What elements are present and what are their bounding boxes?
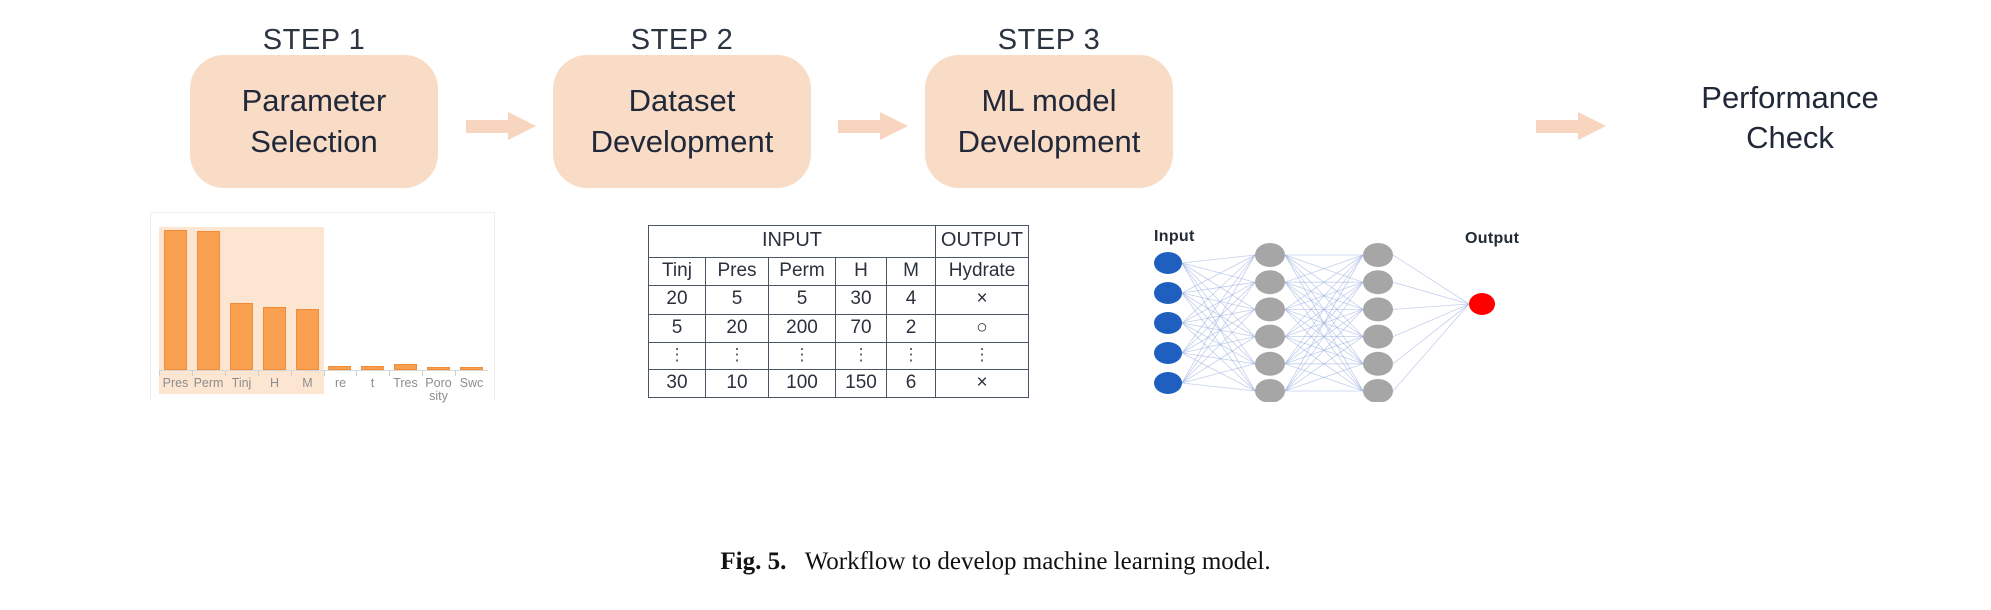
table-cell: 100 bbox=[769, 369, 836, 398]
column-header-hydrate: Hydrate bbox=[936, 257, 1029, 286]
nn-node-hidden-1-4 bbox=[1255, 325, 1285, 349]
x-label-tres: Tres bbox=[389, 377, 422, 390]
bar-m bbox=[296, 309, 319, 370]
bar-plot-area bbox=[159, 227, 488, 370]
dataset-table-panel: INPUT OUTPUT Tinj Pres Perm H M Hydrate … bbox=[648, 225, 1029, 398]
step-1-box[interactable]: Parameter Selection bbox=[190, 55, 438, 188]
table-cell: 70 bbox=[836, 314, 887, 343]
nn-node-hidden-1-1 bbox=[1255, 243, 1285, 267]
x-label-re: re bbox=[324, 377, 357, 390]
x-label-line: Tres bbox=[389, 377, 422, 390]
step-3-title: STEP 3 bbox=[925, 26, 1173, 55]
nn-svg bbox=[1130, 222, 1560, 402]
table-row: 2055304× bbox=[649, 286, 1029, 315]
table-column-header-row: Tinj Pres Perm H M Hydrate bbox=[649, 257, 1029, 286]
x-label-swc: Swc bbox=[455, 377, 488, 390]
x-label-poro-sity: Porosity bbox=[422, 377, 455, 403]
x-axis-tick bbox=[422, 370, 423, 376]
x-label-tinj: Tinj bbox=[225, 377, 258, 390]
table-row: 520200702○ bbox=[649, 314, 1029, 343]
column-header-tinj: Tinj bbox=[649, 257, 706, 286]
nn-node-hidden-1-6 bbox=[1255, 379, 1285, 402]
table-cell: 5 bbox=[649, 314, 706, 343]
arrow-shaft bbox=[1536, 120, 1582, 133]
x-label-m: M bbox=[291, 377, 324, 390]
table-cell: 30 bbox=[649, 369, 706, 398]
nn-node-input-3 bbox=[1154, 312, 1182, 334]
table-cell: × bbox=[936, 286, 1029, 315]
x-label-line: H bbox=[258, 377, 291, 390]
bar-h bbox=[263, 307, 286, 370]
table-cell: 30 bbox=[836, 286, 887, 315]
step-3-box[interactable]: ML model Development bbox=[925, 55, 1173, 188]
x-label-t: t bbox=[356, 377, 389, 390]
group-header-output: OUTPUT bbox=[936, 226, 1029, 258]
nn-node-hidden-2-4 bbox=[1363, 325, 1393, 349]
column-header-perm: Perm bbox=[769, 257, 836, 286]
table-cell-ellipsis: ⋮ bbox=[706, 343, 769, 369]
bar-rect bbox=[296, 309, 319, 370]
figure-number: Fig. 5. bbox=[720, 548, 798, 575]
x-axis-tick bbox=[291, 370, 292, 376]
nn-node-hidden-2-1 bbox=[1363, 243, 1393, 267]
bar-tinj bbox=[230, 303, 253, 370]
arrow-right-icon-2 bbox=[838, 112, 908, 140]
table-cell: 4 bbox=[887, 286, 936, 315]
arrow-head bbox=[880, 112, 908, 140]
x-label-line: Pres bbox=[159, 377, 192, 390]
arrow-right-icon-3 bbox=[1536, 112, 1606, 140]
table-cell: 5 bbox=[769, 286, 836, 315]
performance-check-line-2: Check bbox=[1640, 118, 1940, 158]
table-group-header-row: INPUT OUTPUT bbox=[649, 226, 1029, 258]
performance-check-line-1: Performance bbox=[1640, 78, 1940, 118]
nn-node-input-1 bbox=[1154, 252, 1182, 274]
x-label-line: Swc bbox=[455, 377, 488, 390]
arrow-head bbox=[508, 112, 536, 140]
table-cell-ellipsis: ⋮ bbox=[887, 343, 936, 369]
bar-rect bbox=[230, 303, 253, 370]
x-label-line: sity bbox=[422, 390, 455, 403]
step-1-line-2: Selection bbox=[250, 122, 378, 162]
nn-node-hidden-1-2 bbox=[1255, 270, 1285, 294]
table-cell: 20 bbox=[706, 314, 769, 343]
step-2-line-2: Development bbox=[591, 122, 774, 162]
bar-rect bbox=[197, 231, 220, 370]
x-axis-tick bbox=[159, 370, 160, 376]
step-2-box[interactable]: Dataset Development bbox=[553, 55, 811, 188]
x-axis-tick bbox=[389, 370, 390, 376]
x-label-perm: Perm bbox=[192, 377, 225, 390]
x-label-line: Tinj bbox=[225, 377, 258, 390]
table-cell-ellipsis: ⋮ bbox=[836, 343, 887, 369]
group-header-input: INPUT bbox=[649, 226, 936, 258]
arrow-right-icon-1 bbox=[466, 112, 536, 140]
arrow-shaft bbox=[838, 120, 884, 133]
arrow-head bbox=[1578, 112, 1606, 140]
column-header-pres: Pres bbox=[706, 257, 769, 286]
performance-check-label: Performance Check bbox=[1640, 78, 1940, 159]
step-2-title: STEP 2 bbox=[553, 26, 811, 55]
workflow-step-row: STEP 1 Parameter Selection STEP 2 Datase… bbox=[0, 0, 1991, 200]
step-1-title: STEP 1 bbox=[190, 26, 438, 55]
nn-node-input-2 bbox=[1154, 282, 1182, 304]
table-cell: 20 bbox=[649, 286, 706, 315]
figure-caption: Fig. 5. Workflow to develop machine lear… bbox=[0, 548, 1991, 576]
x-label-line: t bbox=[356, 377, 389, 390]
neural-network-diagram: Input Output bbox=[1130, 222, 1560, 402]
step-3-line-1: ML model bbox=[982, 81, 1117, 121]
nn-node-input-4 bbox=[1154, 342, 1182, 364]
nn-node-hidden-1-5 bbox=[1255, 352, 1285, 376]
table-cell-ellipsis: ⋮ bbox=[936, 343, 1029, 369]
table-cell: 200 bbox=[769, 314, 836, 343]
x-label-line: M bbox=[291, 377, 324, 390]
table-cell: 2 bbox=[887, 314, 936, 343]
nn-node-hidden-2-3 bbox=[1363, 297, 1393, 321]
nn-node-hidden-2-6 bbox=[1363, 379, 1393, 402]
dataset-table-body: 2055304×520200702○⋮⋮⋮⋮⋮⋮30101001506× bbox=[649, 286, 1029, 398]
table-cell: × bbox=[936, 369, 1029, 398]
x-label-pres: Pres bbox=[159, 377, 192, 390]
step-3-line-2: Development bbox=[958, 122, 1141, 162]
column-header-h: H bbox=[836, 257, 887, 286]
x-axis-tick bbox=[356, 370, 357, 376]
bar-rect bbox=[164, 230, 187, 370]
table-row: 30101001506× bbox=[649, 369, 1029, 398]
nn-node-output-1 bbox=[1469, 293, 1495, 315]
table-cell: 5 bbox=[706, 286, 769, 315]
dataset-table: INPUT OUTPUT Tinj Pres Perm H M Hydrate … bbox=[648, 225, 1029, 398]
column-header-m: M bbox=[887, 257, 936, 286]
table-cell: 10 bbox=[706, 369, 769, 398]
nn-node-input-5 bbox=[1154, 372, 1182, 394]
x-axis-tick bbox=[258, 370, 259, 376]
figure-caption-text: Workflow to develop machine learning mod… bbox=[805, 548, 1271, 575]
table-cell: ○ bbox=[936, 314, 1029, 343]
x-axis-tick bbox=[455, 370, 456, 376]
table-cell: 150 bbox=[836, 369, 887, 398]
x-axis-tick-labels: PresPermTinjHMretTresPorositySwc bbox=[159, 377, 488, 401]
nn-node-hidden-2-5 bbox=[1363, 352, 1393, 376]
nn-edges bbox=[1182, 255, 1469, 391]
x-axis-tick bbox=[225, 370, 226, 376]
step-1-line-1: Parameter bbox=[242, 81, 387, 121]
table-cell-ellipsis: ⋮ bbox=[769, 343, 836, 369]
dataset-table-head: INPUT OUTPUT Tinj Pres Perm H M Hydrate bbox=[649, 226, 1029, 286]
bar-perm bbox=[197, 231, 220, 370]
x-axis-tick bbox=[324, 370, 325, 376]
table-row: ⋮⋮⋮⋮⋮⋮ bbox=[649, 343, 1029, 369]
nn-node-hidden-1-3 bbox=[1255, 297, 1285, 321]
x-axis-tick bbox=[192, 370, 193, 376]
step-2-line-1: Dataset bbox=[629, 81, 736, 121]
x-label-h: H bbox=[258, 377, 291, 390]
feature-importance-bar-chart: PresPermTinjHMretTresPorositySwc bbox=[150, 212, 495, 400]
bar-rect bbox=[263, 307, 286, 370]
table-cell: 6 bbox=[887, 369, 936, 398]
x-label-line: re bbox=[324, 377, 357, 390]
table-cell-ellipsis: ⋮ bbox=[649, 343, 706, 369]
x-label-line: Perm bbox=[192, 377, 225, 390]
bar-pres bbox=[164, 230, 187, 370]
nn-node-hidden-2-2 bbox=[1363, 270, 1393, 294]
arrow-shaft bbox=[466, 120, 512, 133]
